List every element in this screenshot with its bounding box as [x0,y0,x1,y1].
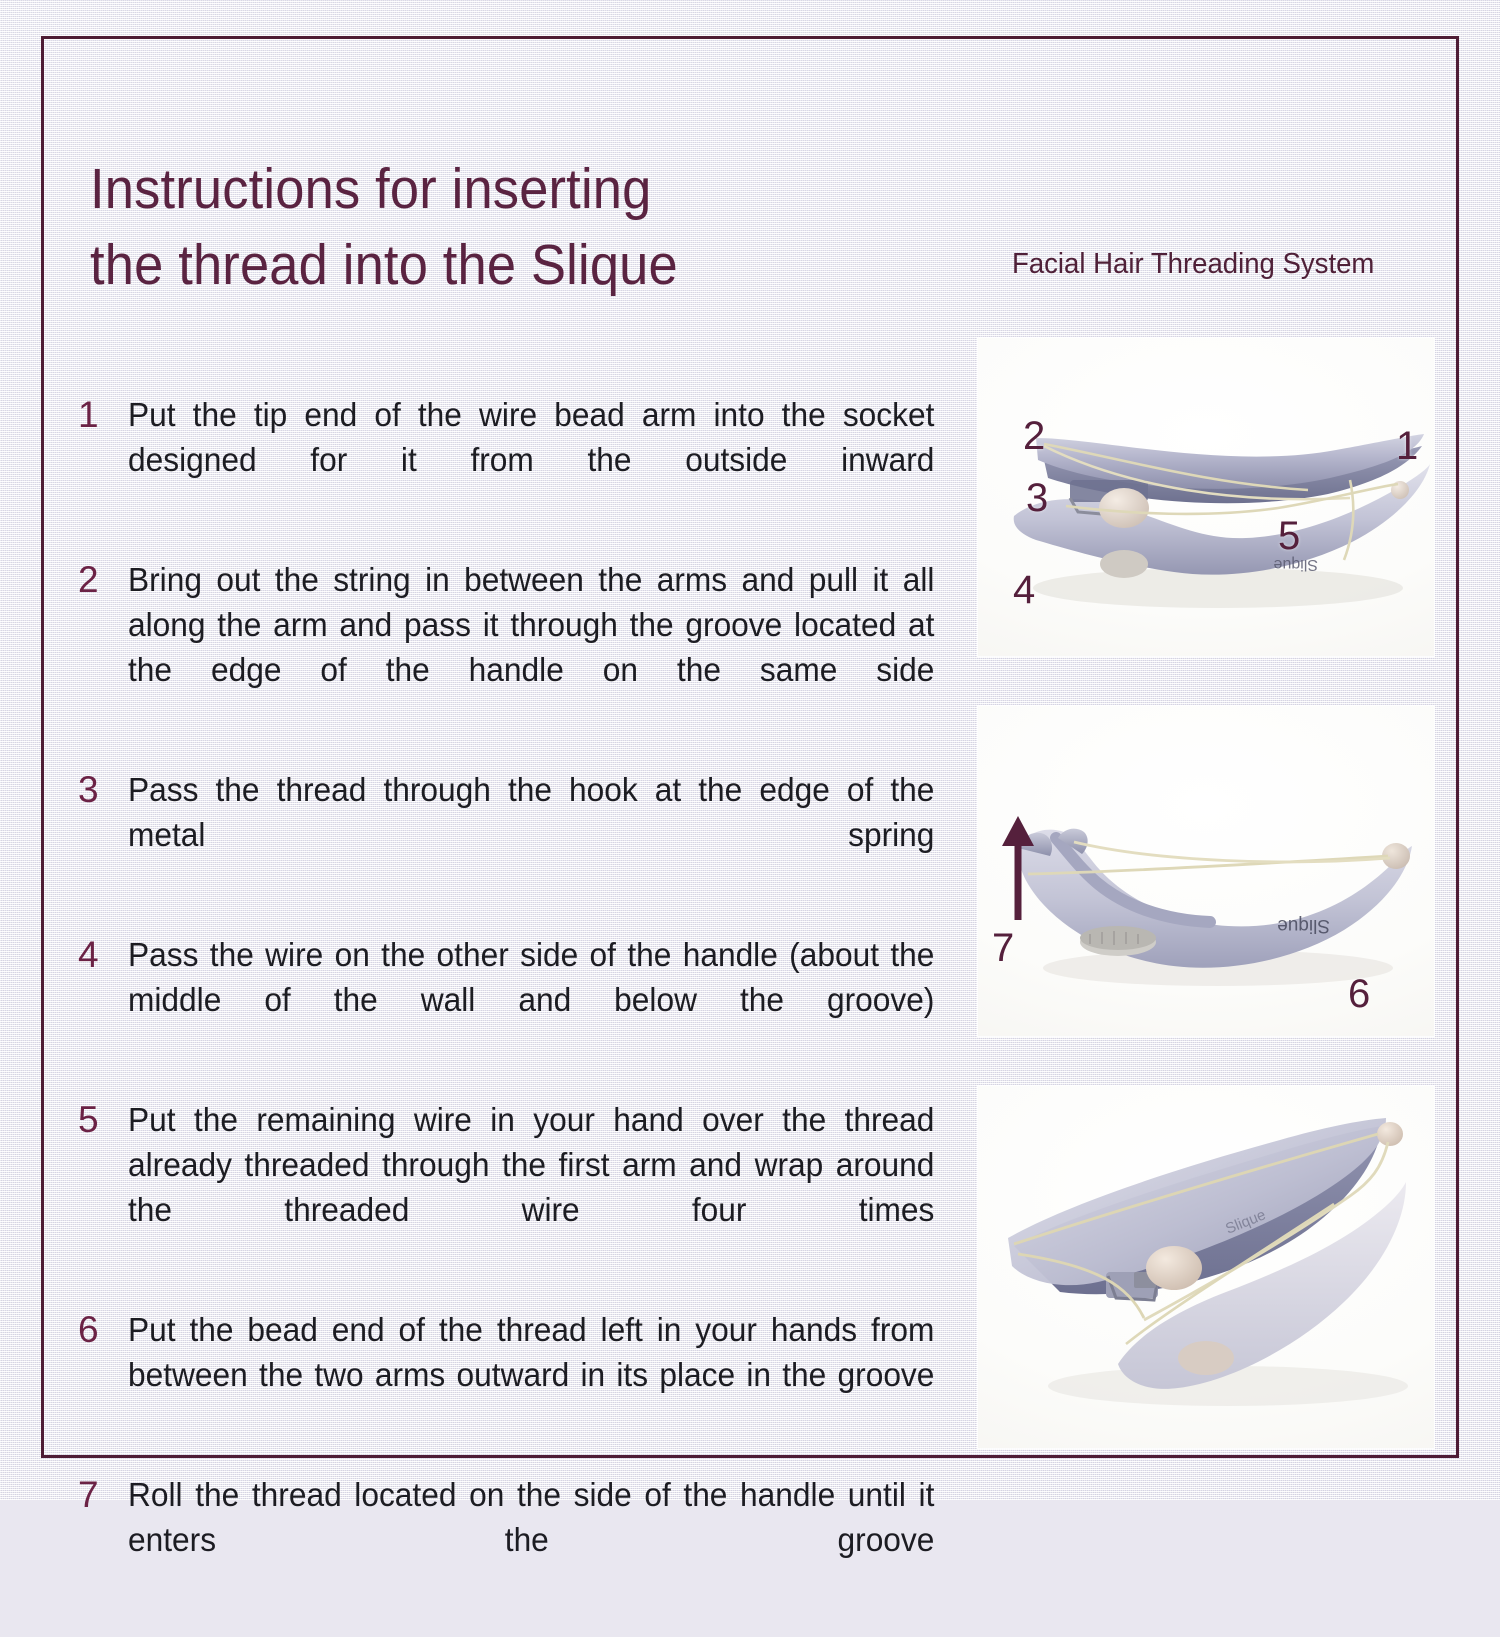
page-title-line-2: the thread into the Slique [90,228,881,304]
photo-callout: 3 [1026,478,1048,518]
photo-callout: 7 [992,928,1014,968]
instruction-steps-list: 1 Put the tip end of the wire bead arm i… [78,392,968,1637]
step-text: Roll the thread located on the side of t… [128,1472,934,1607]
list-item: 4 Pass the wire on the other side of the… [78,932,968,1067]
photo-side-view-threaded: Slique 2 3 4 5 1 [978,338,1434,656]
list-item: 2 Bring out the string in between the ar… [78,557,968,737]
list-item: 1 Put the tip end of the wire bead arm i… [78,392,968,527]
photo-handle-roll-direction: Slique 7 6 [978,706,1434,1036]
step-text: Bring out the string in between the arms… [128,557,934,737]
list-item: 7 Roll the thread located on the side of… [78,1472,968,1607]
photo-image: Slique [978,1086,1434,1448]
svg-text:Slique: Slique [1277,915,1330,936]
list-item: 5 Put the remaining wire in your hand ov… [78,1097,968,1277]
step-text: Pass the wire on the other side of the h… [128,932,934,1067]
page-title: Instructions for inserting the thread in… [90,152,881,304]
roll-up-arrow-icon [1000,814,1036,922]
photo-callout: 6 [1348,974,1370,1014]
list-item: 3 Pass the thread through the hook at th… [78,767,968,902]
page-title-line-1: Instructions for inserting [90,152,881,228]
step-number: 3 [78,767,128,813]
step-number: 1 [78,392,128,438]
step-text: Put the remaining wire in your hand over… [128,1097,934,1277]
step-text: Pass the thread through the hook at the … [128,767,934,902]
step-number: 7 [78,1472,128,1518]
photo-callout: 4 [1013,570,1035,610]
page-subtitle: Facial Hair Threading System [1012,250,1374,279]
step-number: 4 [78,932,128,978]
photo-callout: 1 [1396,426,1418,466]
photo-three-quarter-view: Slique [978,1086,1434,1448]
list-item: 6 Put the bead end of the thread left in… [78,1307,968,1442]
step-text: Put the tip end of the wire bead arm int… [128,392,934,527]
step-text: Put the bead end of the thread left in y… [128,1307,934,1442]
step-number: 2 [78,557,128,603]
photo-callout: 2 [1023,416,1045,456]
step-number: 6 [78,1307,128,1353]
step-number: 5 [78,1097,128,1143]
photo-callout: 5 [1278,516,1300,556]
svg-text:Slique: Slique [1273,556,1318,573]
